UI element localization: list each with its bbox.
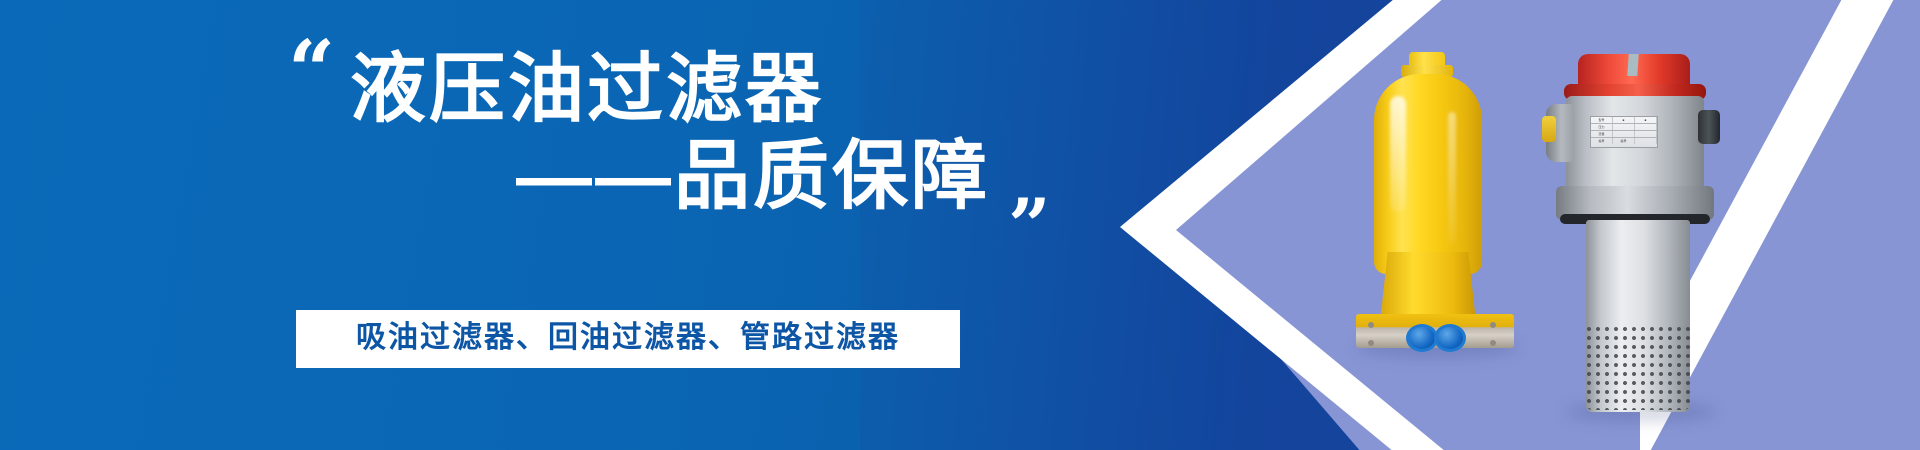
filter-highlight [1390, 96, 1406, 212]
label-cell [1613, 124, 1635, 130]
banner-subtitle: 吸油过滤器、回油过滤器、管路过滤器 [320, 319, 936, 357]
label-cell: 型号 [1591, 117, 1613, 123]
banner-title-line-2-wrap: ——品质保障 „ [350, 137, 990, 218]
filter-bolt [1490, 340, 1496, 346]
product-grey-return-filter-icon: 型号 ■ ■ 压力 流量 编号 编号 [1540, 54, 1740, 414]
label-plate-row: 压力 [1591, 124, 1657, 131]
label-cell: 压力 [1591, 124, 1613, 130]
label-plate-row: 型号 ■ ■ [1591, 117, 1657, 124]
filter-port-outlet [1434, 324, 1466, 352]
filter-bolt [1368, 322, 1374, 328]
filter-cap-notch [1627, 54, 1639, 76]
filter-bolt [1368, 340, 1374, 346]
filter-label-plate: 型号 ■ ■ 压力 流量 编号 编号 [1590, 116, 1658, 148]
quote-open-icon: “ [288, 30, 331, 112]
label-cell: ■ [1613, 117, 1635, 123]
label-cell [1613, 131, 1635, 137]
label-cell: 编号 [1591, 138, 1613, 144]
label-plate-row: 编号 编号 [1591, 138, 1657, 144]
banner-title-line-1: 液压油过滤器 [350, 50, 1018, 131]
label-plate-row: 流量 [1591, 131, 1657, 138]
filter-side-port-plug [1542, 116, 1556, 142]
label-cell: 流量 [1591, 131, 1613, 137]
filter-skirt [1380, 252, 1476, 322]
label-cell [1635, 138, 1657, 144]
subtitle-bar: 吸油过滤器、回油过滤器、管路过滤器 [296, 310, 960, 368]
promo-banner: “ 液压油过滤器 ——品质保障 „ 吸油过滤器、回油过滤器、管路过滤器 [0, 0, 1920, 450]
banner-title-line-2: ——品质保障 [516, 134, 990, 219]
filter-perforated-section [1586, 326, 1690, 410]
perforation-grid [1586, 326, 1690, 410]
filter-highlight-secondary [1448, 112, 1456, 244]
label-cell: ■ [1635, 117, 1657, 123]
filter-bolt [1490, 322, 1496, 328]
label-cell: 编号 [1613, 138, 1635, 144]
label-cell [1635, 131, 1657, 137]
filter-bypass-knob [1698, 110, 1720, 144]
quote-close-icon: „ [1009, 147, 1048, 221]
label-cell [1635, 124, 1657, 130]
product-yellow-pressure-filter-icon [1352, 52, 1518, 348]
headline-block: “ 液压油过滤器 ——品质保障 „ [288, 28, 1018, 217]
